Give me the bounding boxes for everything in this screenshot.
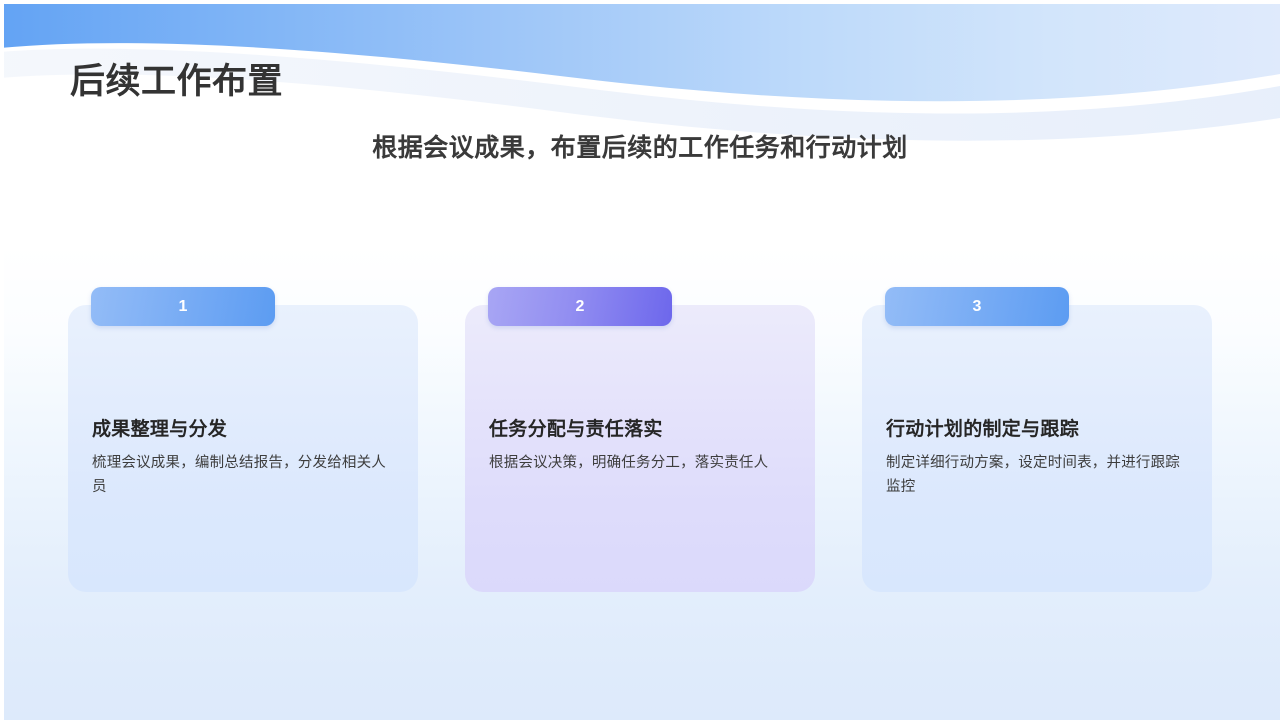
card-item[interactable]: 成果整理与分发 梳理会议成果，编制总结报告，分发给相关人员 1 [68,287,418,597]
card-surface: 行动计划的制定与跟踪 制定详细行动方案，设定时间表，并进行跟踪监控 [862,305,1212,592]
page-subtitle: 根据会议成果，布置后续的工作任务和行动计划 [0,132,1280,165]
card-number-badge[interactable]: 3 [885,287,1069,326]
page-title: 后续工作布置 [70,60,283,104]
card-description: 制定详细行动方案，设定时间表，并进行跟踪监控 [886,452,1181,500]
card-heading: 成果整理与分发 [92,418,227,442]
card-heading: 任务分配与责任落实 [489,418,663,442]
card-number-badge[interactable]: 1 [91,287,275,326]
card-number-badge[interactable]: 2 [488,287,672,326]
card-number-label: 1 [179,298,188,316]
card-number-label: 3 [973,298,982,316]
card-item[interactable]: 行动计划的制定与跟踪 制定详细行动方案，设定时间表，并进行跟踪监控 3 [862,287,1212,597]
card-item[interactable]: 任务分配与责任落实 根据会议决策，明确任务分工，落实责任人 2 [465,287,815,597]
card-surface: 成果整理与分发 梳理会议成果，编制总结报告，分发给相关人员 [68,305,418,592]
card-heading: 行动计划的制定与跟踪 [886,418,1079,442]
card-surface: 任务分配与责任落实 根据会议决策，明确任务分工，落实责任人 [465,305,815,592]
card-list: 成果整理与分发 梳理会议成果，编制总结报告，分发给相关人员 1 任务分配与责任落… [68,287,1212,597]
slide-canvas: 后续工作布置 根据会议成果，布置后续的工作任务和行动计划 成果整理与分发 梳理会… [0,0,1280,720]
card-description: 梳理会议成果，编制总结报告，分发给相关人员 [92,452,387,500]
card-number-label: 2 [576,298,585,316]
card-description: 根据会议决策，明确任务分工，落实责任人 [489,452,784,476]
